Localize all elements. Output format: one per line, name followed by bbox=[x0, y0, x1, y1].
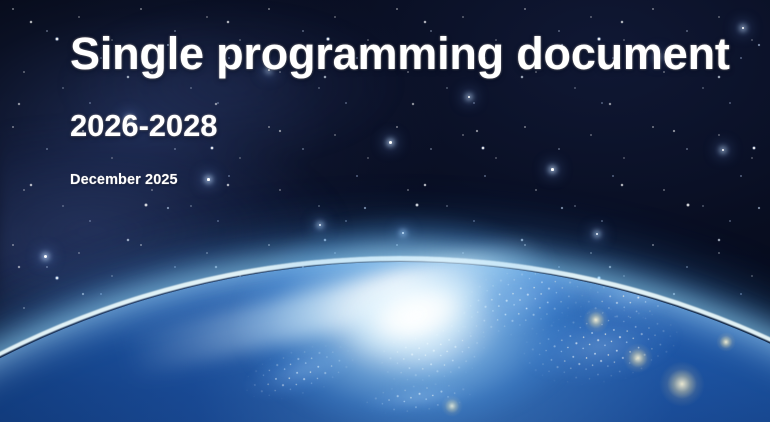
document-date: December 2025 bbox=[70, 142, 730, 189]
bright-star bbox=[596, 233, 598, 235]
presentation-cover-slide: Single programming document 2026-2028 De… bbox=[0, 0, 770, 422]
bright-star bbox=[319, 224, 321, 226]
bright-star bbox=[44, 255, 47, 258]
bright-star bbox=[742, 27, 744, 29]
document-period: 2026-2028 bbox=[70, 78, 730, 143]
cover-text-block: Single programming document 2026-2028 De… bbox=[70, 30, 730, 189]
bright-star bbox=[402, 232, 404, 234]
page-title: Single programming document bbox=[70, 30, 730, 78]
